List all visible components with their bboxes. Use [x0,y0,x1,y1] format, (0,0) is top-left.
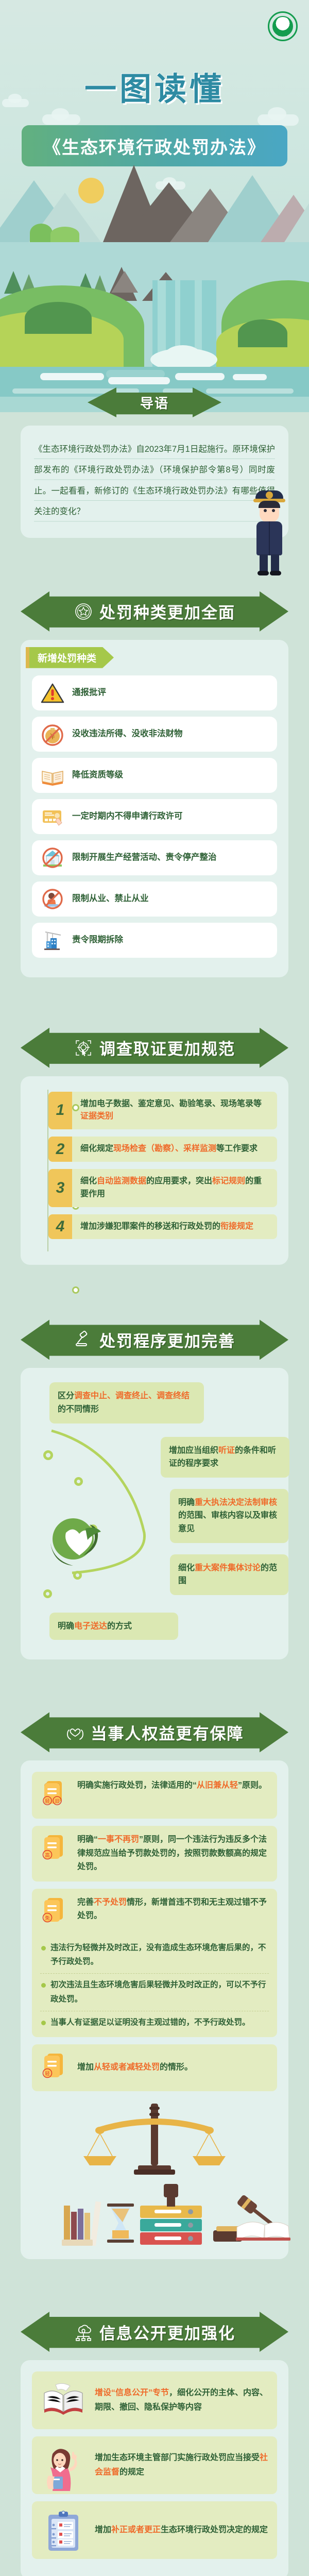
target-scan-icon [74,1038,93,1058]
sublist-item: 当事人有证据足以证明没有主观过错的，不予行政处罚。 [40,2015,269,2030]
no-work-icon [40,887,65,911]
sublist-item: 初次违法且生态环境危害后果轻微并及时改正的，可以不予行政处罚。 [40,1978,269,2011]
section-banner-wrap-rights: 当事人权益更有保障 [0,1699,309,1752]
flow-node [74,1477,83,1486]
list-item-label: 责令限期拆除 [72,934,123,946]
license-card-icon [40,804,65,829]
list-item-label: 通报批评 [72,687,106,699]
flow-box: 区分调查中止、调查终止、调查终结的不同情形 [49,1382,204,1423]
list-item-label: 没收违法所得、没收非法财物 [72,728,183,740]
infographic-page: MEE 一图读懂 《生态环境行政处罚办法》 [0,0,309,2576]
numbered-item: 2 细化规定现场检查（勘察）、采样监测等工作要求 [48,1137,277,1162]
intro-banner-label: 导语 [140,393,169,412]
flow-box: 明确重大执法决定法制审核的范围、审核内容以及审核意见 [170,1489,288,1543]
section-banner-wrap-disclosure: 信息公开更加强化 [0,2298,309,2352]
svg-text:免: 免 [45,1915,49,1921]
doc-item: 轻旧 明确实施行政处罚，法律适用的“从旧兼从轻”原则。 [32,1772,277,1819]
section-banner-wrap-penalty-types: 处罚种类更加全面 [0,578,309,632]
svg-text:高: 高 [45,1852,49,1858]
doc-stamp-icon: 高 [40,1833,70,1874]
list-item: 通报批评 [32,675,277,710]
item-text: 增加电子数据、鉴定意见、勘验笔录、现场笔录等证据类别 [72,1092,277,1130]
info-item-text: 增设“信息公开”专节，细化公开的主体、内容、期限、撤回、隐私保护等内容 [95,2386,269,2415]
item-number: 2 [48,1137,72,1162]
section-banner-rights: 当事人权益更有保障 [21,1712,288,1752]
doc-item: 高 明确“一事不再罚”原则，同一个违法行为违反多个法律规范应当给予罚款处罚的，按… [32,1826,277,1881]
section-banner-disclosure: 信息公开更加强化 [21,2312,288,2352]
list-item-label: 限制开展生产经营活动、责令停产整治 [72,852,217,863]
timeline-dot [72,1286,79,1294]
flow-box: 细化重大案件集体讨论的范围 [170,1554,288,1595]
doc-stamp-icon: 轻 [40,2052,70,2084]
doc-item: 免 完善不予处罚情形，新增首违不罚和无主观过错不予处罚。 违法行为轻微并及时改正… [32,1889,277,2037]
timeline-dot [72,1104,79,1111]
info-item-text: 增加补正或者更正生态环境行政处罚决定的规定 [95,2523,268,2537]
penalty-types-card: 新增处罚种类 通报批评 ¥ 没收违法所得、没收非法财物 降低资质等级 一定时期内… [21,640,288,977]
scales-of-justice-icon [32,2098,277,2176]
doc-item-text: 增加从轻或者减轻处罚的情形。 [77,2061,193,2074]
item-text: 细化自动监测数据的应用要求，突出标记规则的重要作用 [72,1169,277,1207]
item-text: 细化规定现场检查（勘察）、采样监测等工作要求 [72,1137,277,1162]
list-item: 责令限期拆除 [32,923,277,958]
procedure-card: 区分调查中止、调查终止、调查终结的不同情形 增加应当组织听证的条件和听证的程序要… [21,1368,288,1659]
mee-logo-text: MEE [278,32,287,37]
item-number: 4 [48,1214,72,1240]
doc-item-text: 完善不予处罚情形，新增首违不罚和无主观过错不予处罚。 [77,1896,269,1928]
section-banner-procedure: 处罚程序更加完善 [21,1319,288,1360]
disclosure-card: 增设“信息公开”专节，细化公开的主体、内容、期限、撤回、隐私保护等内容 增加生态… [21,2360,288,2576]
info-item-text: 增加生态环境主管部门实施行政处罚应当接受社会监督的规定 [95,2451,269,2480]
rights-card: 轻旧 明确实施行政处罚，法律适用的“从旧兼从轻”原则。 高 明确“一事不再罚”原… [21,1760,288,2259]
list-item-label: 限制从业、禁止从业 [72,893,149,905]
svg-text:轻: 轻 [45,1798,49,1804]
svg-text:旧: 旧 [55,1799,59,1804]
section-banner-label: 处罚种类更加全面 [99,600,235,623]
hands-heart-icon [65,1722,85,1742]
sublist-item: 违法行为轻微并及时改正，没有造成生态环境危害后果的，不予行政处罚。 [40,1941,269,1974]
hero-section: MEE 一图读懂 《生态环境行政处罚办法》 [0,0,309,242]
section-banner-label: 处罚程序更加完善 [99,1328,235,1351]
list-item: 限制从业、禁止从业 [32,882,277,917]
star-badge-icon [74,602,93,621]
cloud-network-icon [74,2322,93,2342]
list-item: 降低资质等级 [32,758,277,793]
item-text: 增加涉嫌犯罪案件的移送和行政处罚的衔接规定 [72,1214,277,1240]
mee-logo: MEE [268,11,298,41]
no-money-icon: ¥ [40,722,65,747]
flow-box: 明确电子送达的方式 [49,1613,178,1640]
flow-node [43,1589,52,1598]
intro-card: 《生态环境行政处罚办法》自2023年7月1日起施行。原环境保护部发布的《环境行政… [21,426,288,538]
numbered-item: 4 增加涉嫌犯罪案件的移送和行政处罚的衔接规定 [48,1214,277,1240]
list-item: 一定时期内不得申请行政许可 [32,799,277,834]
crane-demolition-icon [40,928,65,953]
mountain-range [0,160,309,242]
doc-sublist: 违法行为轻微并及时改正，没有造成生态环境危害后果的，不予行政处罚。 初次违法且生… [40,1941,269,2030]
section-banner-label: 信息公开更加强化 [99,2320,235,2344]
info-item: 增加生态环境主管部门实施行政处罚应当接受社会监督的规定 [32,2436,277,2494]
section-banner-label: 调查取证更加规范 [99,1036,235,1059]
procedure-flow: 区分调查中止、调查终止、调查终结的不同情形 增加应当组织听证的条件和听证的程序要… [32,1379,277,1645]
svg-text:轻: 轻 [45,2071,49,2077]
books-files-gavel-icon [32,2179,277,2246]
list-item-label: 降低资质等级 [72,769,123,781]
intro-banner-wrap: 导语 [0,374,309,417]
list-item-label: 一定时期内不得申请行政许可 [72,810,183,822]
doc-item-text: 明确实施行政处罚，法律适用的“从旧兼从轻”原则。 [77,1779,267,1811]
item-number: 1 [48,1092,72,1130]
section-banner-penalty-types: 处罚种类更加全面 [21,591,288,632]
section-banner-label: 当事人权益更有保障 [91,1721,244,1744]
doc-item-text: 明确“一事不再罚”原则，同一个违法行为违反多个法律规范应当给予罚款处罚的，按照罚… [77,1833,269,1874]
warning-triangle-icon [40,681,65,705]
info-item: 增加补正或者更正生态环境行政处罚决定的规定 [32,2501,277,2559]
flow-box: 增加应当组织听证的条件和听证的程序要求 [161,1437,289,1478]
doc-item: 轻 增加从轻或者减轻处罚的情形。 [32,2044,277,2091]
flow-node [43,1450,53,1460]
page-title: 一图读懂 [0,63,309,109]
investigation-card: 1 增加电子数据、鉴定意见、勘验笔录、现场笔录等证据类别 2 细化规定现场检查（… [21,1076,288,1265]
doc-stamp-icon: 免 [40,1896,70,1928]
list-item: ¥ 没收违法所得、没收非法财物 [32,717,277,752]
gavel-icon [74,1330,93,1349]
no-factory-icon [40,845,65,870]
woman-pointing-icon [40,2445,87,2486]
info-item: 增设“信息公开”专节，细化公开的主体、内容、期限、撤回、隐私保护等内容 [32,2371,277,2429]
section-banner-wrap-procedure: 处罚程序更加完善 [0,1306,309,1360]
section-banner-investigation: 调查取证更加规范 [21,1028,288,1068]
list-item: 限制开展生产经营活动、责令停产整治 [32,840,277,875]
numbered-item: 3 细化自动监测数据的应用要求，突出标记规则的重要作用 [48,1169,277,1207]
open-book-icon [40,763,65,788]
eco-recycle-heart-icon [45,1512,107,1574]
open-book-icon [40,2380,87,2421]
intro-text: 《生态环境行政处罚办法》自2023年7月1日起施行。原环境保护部发布的《环境行政… [34,439,275,522]
numbered-item: 1 增加电子数据、鉴定意见、勘验笔录、现场笔录等证据类别 [48,1092,277,1130]
new-penalty-types-ribbon: 新增处罚种类 [26,647,114,668]
officer-illustration [247,490,291,578]
section-banner-wrap-investigation: 调查取证更加规范 [0,1014,309,1068]
item-number: 3 [48,1169,72,1207]
clipboard-icon [40,2510,87,2551]
doc-stamp-icon: 轻旧 [40,1779,70,1811]
intro-banner: 导语 [88,387,221,417]
